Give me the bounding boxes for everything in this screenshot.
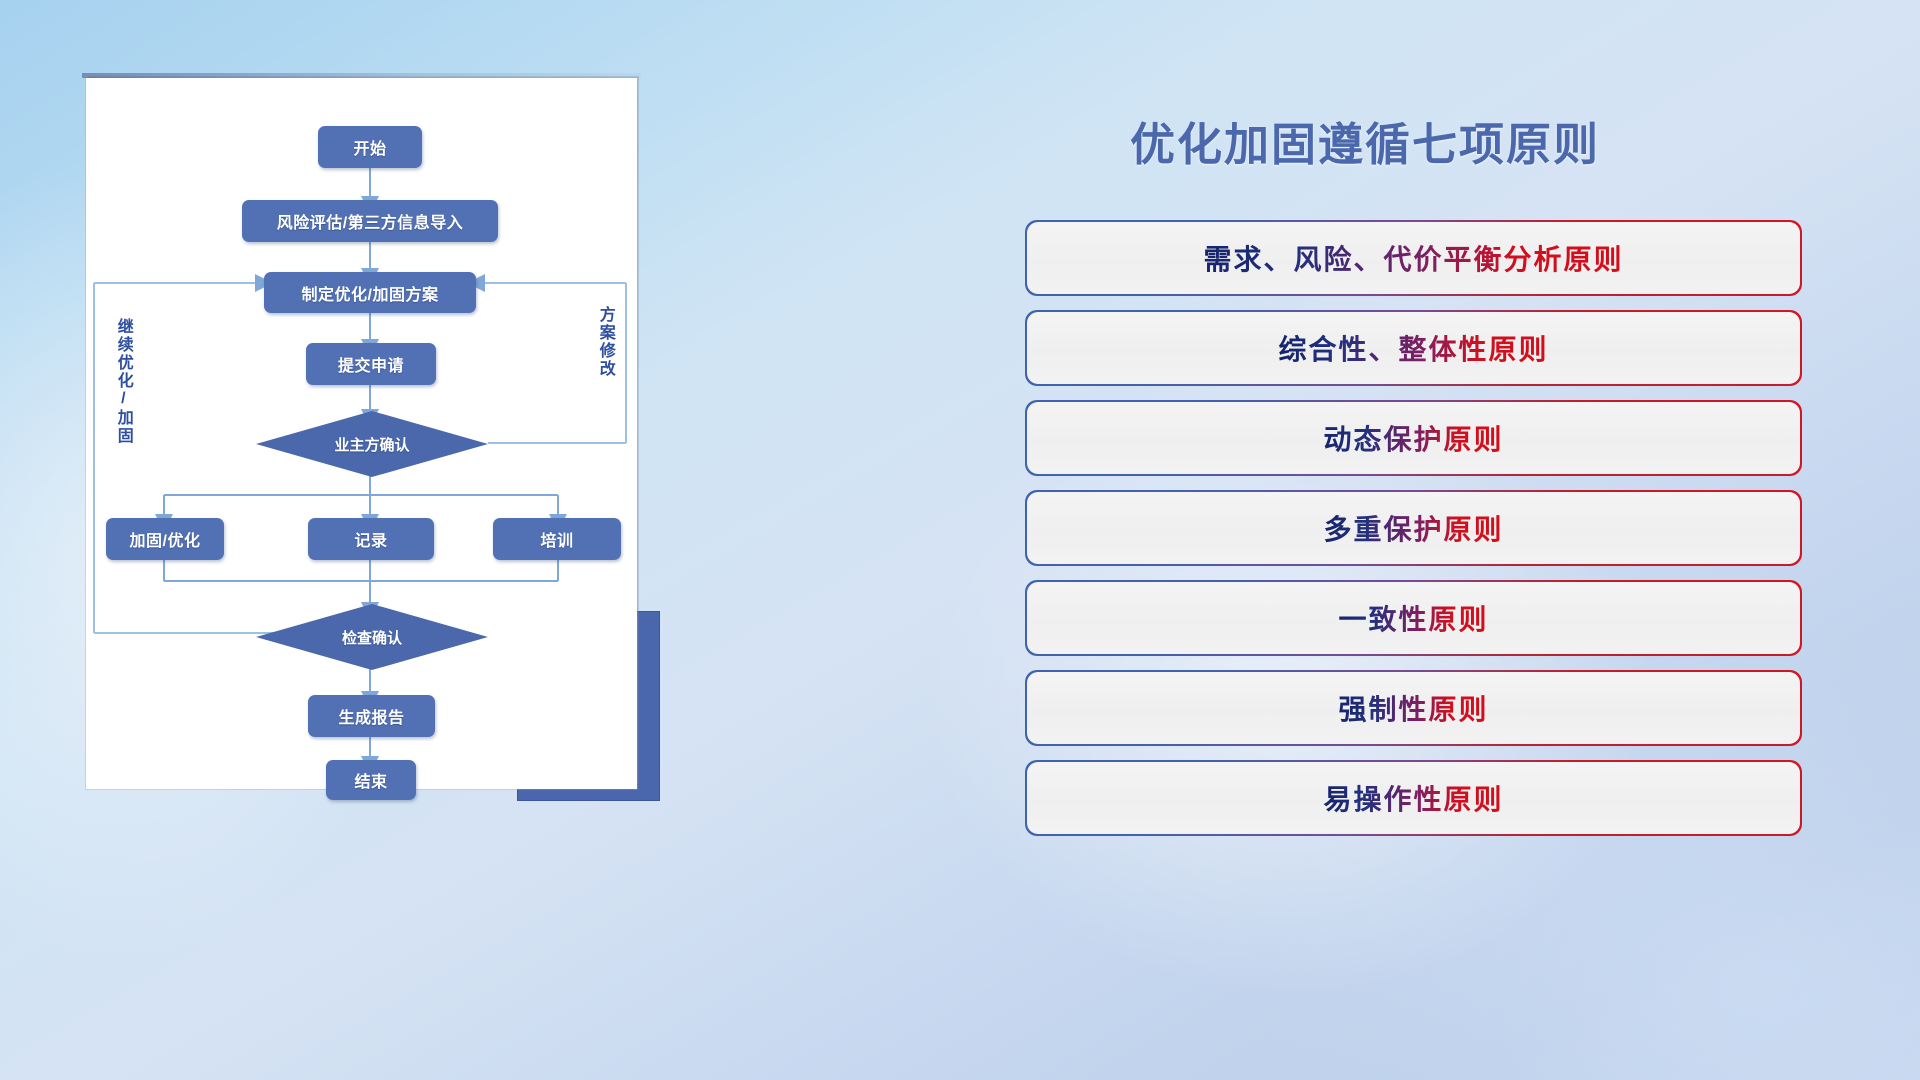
principles-list: 需求、风险、代价平衡分析原则 综合性、整体性原则 动态保护原则 多重保护原则 一…: [1027, 222, 1800, 852]
page-title: 优化加固遵循七项原则: [1130, 108, 1600, 173]
flow-node-label: 开始: [353, 135, 386, 159]
flow-node-training[interactable]: 培训: [493, 518, 621, 560]
principle-card[interactable]: 综合性、整体性原则: [1027, 312, 1800, 384]
principle-label: 多重保护原则: [1323, 508, 1503, 548]
principle-card[interactable]: 一致性原则: [1027, 582, 1800, 654]
principle-label: 动态保护原则: [1323, 418, 1503, 458]
principle-label: 易操作性原则: [1323, 778, 1503, 818]
principle-card[interactable]: 动态保护原则: [1027, 402, 1800, 474]
flow-node-submit-application[interactable]: 提交申请: [306, 343, 436, 385]
flow-node-label: 结束: [354, 768, 387, 792]
flow-node-label: 生成报告: [338, 704, 404, 728]
flow-node-label: 业主方确认: [334, 434, 409, 455]
flow-node-label: 记录: [354, 527, 387, 551]
flow-node-record[interactable]: 记录: [308, 518, 434, 560]
principle-card[interactable]: 易操作性原则: [1027, 762, 1800, 834]
flow-node-plan[interactable]: 制定优化/加固方案: [264, 272, 476, 313]
flow-node-label: 培训: [540, 527, 573, 551]
flow-node-label: 制定优化/加固方案: [302, 281, 439, 305]
principle-label: 强制性原则: [1338, 688, 1488, 728]
principle-label: 综合性、整体性原则: [1278, 328, 1548, 368]
flowchart-card: 开始 风险评估/第三方信息导入 制定优化/加固方案 提交申请 业主方确认 加固/…: [86, 78, 637, 789]
flow-node-generate-report[interactable]: 生成报告: [308, 695, 435, 737]
flow-node-label: 风险评估/第三方信息导入: [277, 209, 463, 233]
principle-card[interactable]: 多重保护原则: [1027, 492, 1800, 564]
flow-node-label: 提交申请: [338, 352, 404, 376]
flow-node-label: 加固/优化: [130, 527, 201, 551]
flow-edge-label-continue-optimize: 继续优化/加固: [114, 318, 131, 458]
flow-node-owner-confirm[interactable]: 业主方确认: [256, 411, 488, 477]
flow-node-inspection-confirm[interactable]: 检查确认: [256, 604, 488, 670]
principle-label: 一致性原则: [1338, 598, 1488, 638]
flow-node-start[interactable]: 开始: [318, 126, 422, 168]
flow-node-end[interactable]: 结束: [326, 760, 416, 800]
flow-node-reinforce-optimize[interactable]: 加固/优化: [106, 518, 224, 560]
principle-label: 需求、风险、代价平衡分析原则: [1203, 238, 1623, 278]
flow-node-label: 检查确认: [342, 627, 402, 648]
principle-card[interactable]: 强制性原则: [1027, 672, 1800, 744]
principle-card[interactable]: 需求、风险、代价平衡分析原则: [1027, 222, 1800, 294]
flow-node-risk-assessment[interactable]: 风险评估/第三方信息导入: [242, 200, 498, 242]
flow-edge-label-plan-revision: 方案修改: [596, 306, 613, 410]
